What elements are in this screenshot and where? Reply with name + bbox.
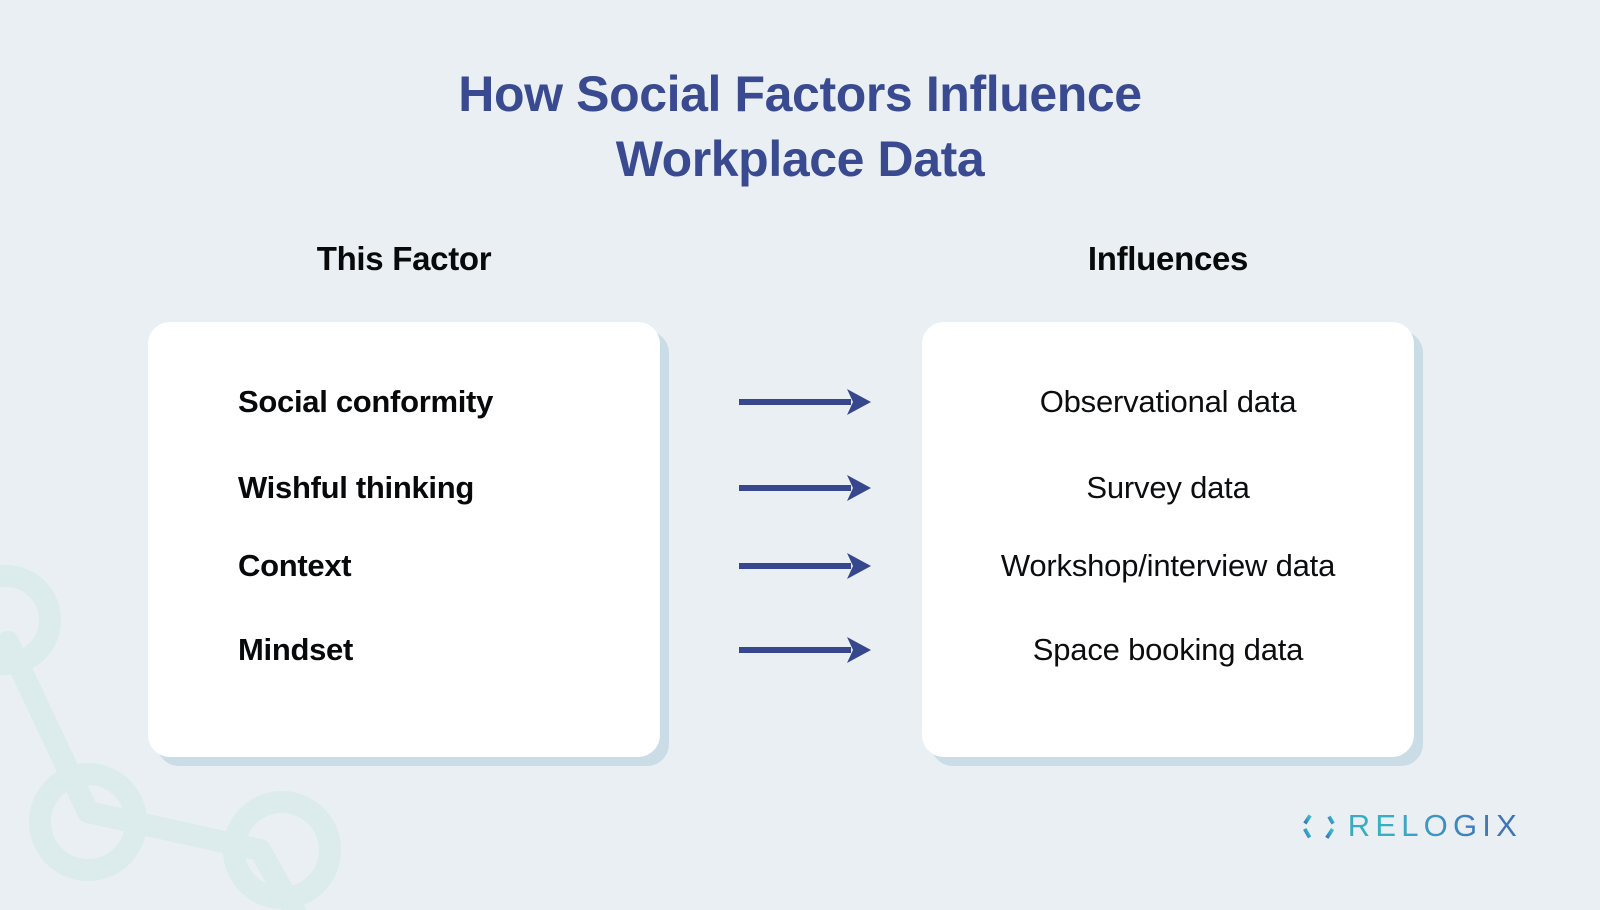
influence-label: Survey data (1086, 470, 1249, 506)
relogix-logo: RELOGIX (1302, 808, 1522, 844)
list-item: Workshop/interview data (922, 544, 1414, 588)
influence-label: Observational data (1040, 384, 1297, 420)
arrow-right-icon (725, 471, 877, 505)
arrow-right-icon (725, 633, 877, 667)
list-item: Wishful thinking (238, 466, 474, 510)
influences-list: Observational data Survey data Workshop/… (922, 322, 1414, 757)
factors-list: Social conformity Wishful thinking Conte… (148, 322, 660, 757)
hexagon-ring-icon (1302, 809, 1336, 843)
page-title-line-2: Workplace Data (0, 127, 1600, 192)
column-header-this-factor: This Factor (148, 240, 660, 278)
factor-label: Context (238, 548, 351, 584)
factor-label: Social conformity (238, 384, 493, 420)
influence-label: Space booking data (1033, 632, 1303, 668)
list-item: Mindset (238, 628, 353, 672)
list-item: Space booking data (922, 628, 1414, 672)
factor-label: Mindset (238, 632, 353, 668)
list-item: Observational data (922, 380, 1414, 424)
list-item: Survey data (922, 466, 1414, 510)
factor-label: Wishful thinking (238, 470, 474, 506)
column-header-influences: Influences (922, 240, 1414, 278)
factors-card: Social conformity Wishful thinking Conte… (148, 322, 660, 757)
influence-label: Workshop/interview data (1001, 548, 1335, 584)
page-title-line-1: How Social Factors Influence (0, 62, 1600, 127)
page-title: How Social Factors Influence Workplace D… (0, 62, 1600, 192)
arrow-right-icon (725, 549, 877, 583)
influences-card: Observational data Survey data Workshop/… (922, 322, 1414, 757)
list-item: Context (238, 544, 351, 588)
connector-arrows (725, 322, 880, 757)
relogix-wordmark: RELOGIX (1348, 808, 1522, 844)
list-item: Social conformity (238, 380, 493, 424)
arrow-right-icon (725, 385, 877, 419)
